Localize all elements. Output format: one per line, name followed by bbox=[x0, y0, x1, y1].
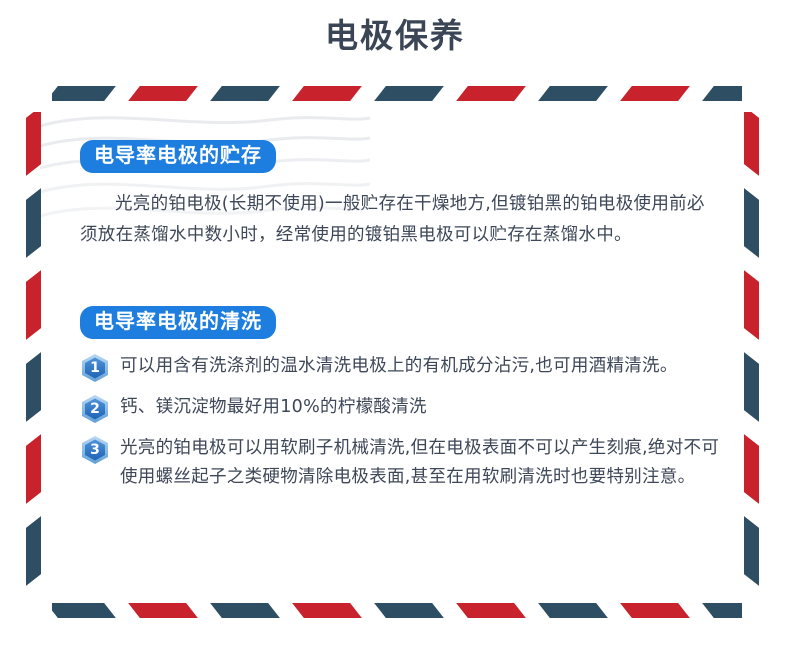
border-dash bbox=[374, 86, 444, 101]
border-dash bbox=[26, 352, 41, 422]
border-dash bbox=[210, 603, 280, 618]
border-dash bbox=[128, 603, 198, 618]
step-number: 1 bbox=[80, 353, 110, 383]
list-item: 3 光亮的铂电极可以用软刷子机械清洗,但在电极表面不可以产生刻痕,绝对不可使用螺… bbox=[80, 433, 720, 491]
step-text: 可以用含有洗涤剂的温水清洗电极上的有机成分沾污,也可用酒精清洗。 bbox=[120, 351, 678, 380]
border-dash bbox=[744, 352, 759, 422]
hexagon-badge-icon: 1 bbox=[80, 353, 110, 383]
border-dash bbox=[620, 603, 690, 618]
border-stripes-top bbox=[52, 86, 742, 106]
step-number: 2 bbox=[80, 394, 110, 424]
border-dash bbox=[52, 603, 116, 618]
section-heading-storage: 电导率电极的贮存 bbox=[80, 140, 276, 173]
border-dash bbox=[538, 603, 608, 618]
border-dash bbox=[744, 434, 759, 504]
border-dash bbox=[538, 86, 608, 101]
border-dash bbox=[292, 86, 362, 101]
cleaning-steps-list: 1 可以用含有洗涤剂的温水清洗电极上的有机成分沾污,也可用酒精清洗。 2 钙、镁… bbox=[80, 351, 720, 491]
border-dash bbox=[52, 86, 116, 101]
border-dash bbox=[620, 86, 690, 101]
border-dash bbox=[210, 86, 280, 101]
border-dash bbox=[744, 188, 759, 258]
border-dash bbox=[456, 86, 526, 101]
border-dash bbox=[26, 516, 41, 586]
step-number: 3 bbox=[80, 435, 110, 465]
page-title: 电极保养 bbox=[0, 0, 790, 56]
envelope-frame: 电导率电极的贮存 光亮的铂电极(长期不使用)一般贮存在干燥地方,但镀铂黑的铂电极… bbox=[22, 82, 768, 627]
step-text: 光亮的铂电极可以用软刷子机械清洗,但在电极表面不可以产生刻痕,绝对不可使用螺丝起… bbox=[120, 433, 720, 491]
list-item: 2 钙、镁沉淀物最好用10%的柠檬酸清洗 bbox=[80, 392, 720, 424]
border-dash bbox=[26, 112, 41, 176]
border-dash bbox=[26, 434, 41, 504]
border-dash bbox=[744, 270, 759, 340]
border-dash bbox=[456, 603, 526, 618]
storage-paragraph: 光亮的铂电极(长期不使用)一般贮存在干燥地方,但镀铂黑的铂电极使用前必须放在蒸馏… bbox=[80, 189, 720, 250]
border-dash bbox=[702, 603, 742, 618]
border-dash bbox=[128, 86, 198, 101]
section-heading-cleaning: 电导率电极的清洗 bbox=[80, 306, 276, 339]
step-text: 钙、镁沉淀物最好用10%的柠檬酸清洗 bbox=[120, 392, 427, 421]
border-dash bbox=[744, 112, 759, 176]
content-area: 电导率电极的贮存 光亮的铂电极(长期不使用)一般贮存在干燥地方,但镀铂黑的铂电极… bbox=[80, 140, 720, 500]
border-dash bbox=[26, 188, 41, 258]
border-dash bbox=[374, 603, 444, 618]
border-stripes-bottom bbox=[52, 603, 742, 623]
section-cleaning: 电导率电极的清洗 bbox=[80, 306, 720, 491]
border-dash bbox=[702, 86, 742, 101]
border-dash bbox=[744, 516, 759, 586]
hexagon-badge-icon: 2 bbox=[80, 394, 110, 424]
hexagon-badge-icon: 3 bbox=[80, 435, 110, 465]
border-stripes-left bbox=[26, 112, 46, 597]
border-stripes-right bbox=[744, 112, 764, 597]
border-dash bbox=[292, 603, 362, 618]
list-item: 1 可以用含有洗涤剂的温水清洗电极上的有机成分沾污,也可用酒精清洗。 bbox=[80, 351, 720, 383]
border-dash bbox=[26, 270, 41, 340]
